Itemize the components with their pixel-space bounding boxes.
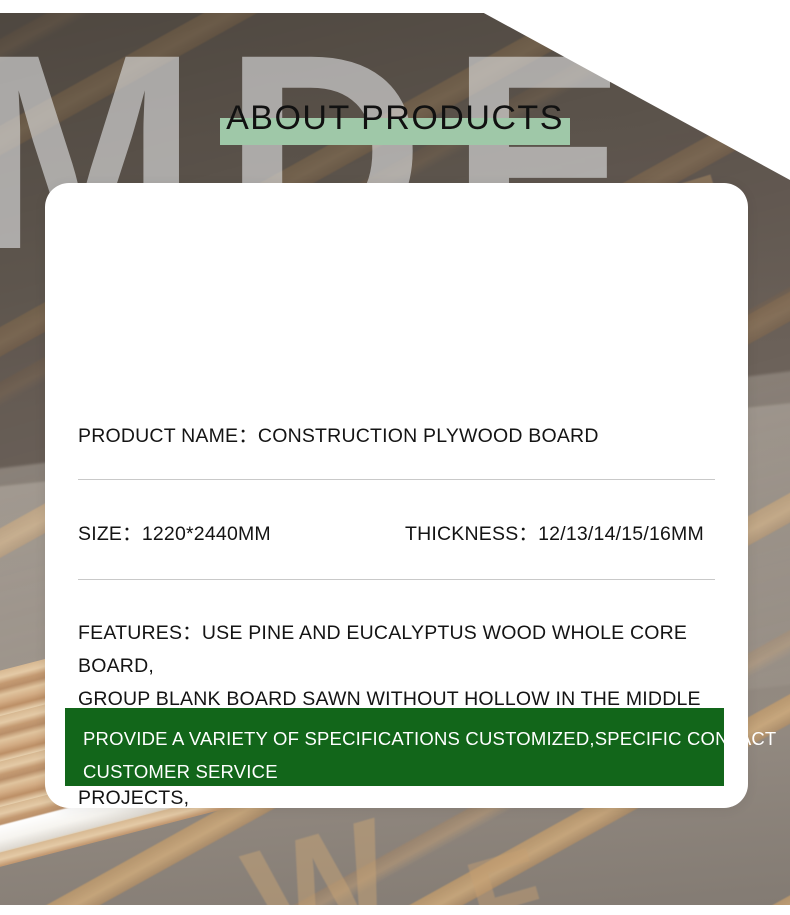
page-title: ABOUT PRODUCTS (226, 99, 564, 137)
spec-row-product-name: PRODUCT NAME：CONSTRUCTION PLYWOOD BOARD (78, 420, 599, 453)
spec-row-features: FEATURES：USE PINE AND EUCALYPTUS WOOD WH… (78, 617, 718, 716)
spec-row-size: SIZE：1220*2440MM (78, 518, 271, 551)
spec-value-product-name: CONSTRUCTION PLYWOOD BOARD (258, 425, 599, 447)
customization-notice-banner: PROVIDE A VARIETY OF SPECIFICATIONS CUST… (65, 708, 724, 786)
banner-line-2: CUSTOMER SERVICE (83, 755, 706, 788)
spec-label-size: SIZE： (78, 523, 142, 545)
divider-2 (78, 579, 715, 580)
spec-label-features: FEATURES： (78, 622, 202, 644)
spec-label-thickness: THICKNESS： (405, 523, 538, 545)
bottom-white-strip (0, 905, 790, 915)
banner-line-1: PROVIDE A VARIETY OF SPECIFICATIONS CUST… (83, 722, 706, 755)
spec-label-product-name: PRODUCT NAME： (78, 425, 258, 447)
spec-features-line-1: FEATURES：USE PINE AND EUCALYPTUS WOOD WH… (78, 617, 718, 683)
divider-1 (78, 479, 715, 480)
product-info-page: M W F MDF ABOUT PRODUCTS PRODUCT NAME：CO… (0, 0, 790, 915)
page-title-inner: ABOUT PRODUCTS (220, 96, 570, 140)
spec-value-thickness: 12/13/14/15/16MM (538, 523, 704, 545)
spec-value-size: 1220*2440MM (142, 523, 271, 545)
spec-row-thickness: THICKNESS：12/13/14/15/16MM (405, 518, 704, 551)
page-title-container: ABOUT PRODUCTS (0, 96, 790, 140)
